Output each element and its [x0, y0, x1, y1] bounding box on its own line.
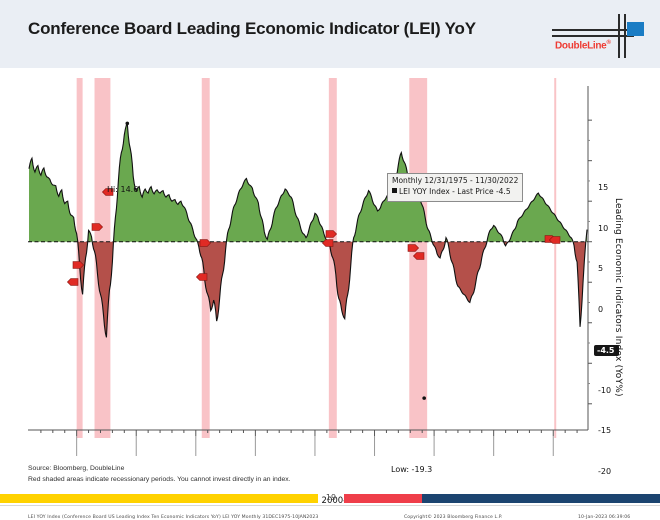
bloomberg-footer-timestamp: 10-Jan-2023 06:39:06: [578, 515, 630, 520]
chart-container: Monthly 12/31/1975 - 11/30/2022 LEI YOY …: [0, 68, 660, 463]
logo-registered-mark: ®: [606, 40, 610, 46]
high-point-marker: [125, 122, 129, 126]
page-title: Conference Board Leading Economic Indica…: [28, 19, 476, 39]
y-axis-tick-label: 5: [598, 264, 603, 273]
legend-swatch-icon: [392, 188, 397, 193]
recession-marker-icons: [67, 122, 560, 400]
legend-series-row: LEI YOY Index - Last Price -4.5: [392, 187, 518, 198]
y-axis-tick-label: 0: [598, 305, 603, 314]
logo-wordmark: DoubleLine®: [555, 40, 611, 51]
footer-bar-blue: [422, 494, 660, 503]
y-axis-title: Leading Economic Indicators Index (YoY%): [613, 198, 623, 408]
low-point-marker: [422, 396, 426, 400]
recession-band: [554, 78, 556, 438]
y-axis-tick-label: -20: [598, 467, 611, 476]
y-axis-tick-label: 15: [598, 183, 608, 192]
bloomberg-footer-left: LEI YOY Index (Conference Board US Leadi…: [28, 515, 318, 520]
chart-legend: Monthly 12/31/1975 - 11/30/2022 LEI YOY …: [387, 173, 523, 202]
series-line: [29, 123, 587, 337]
footer-bar: 19: [0, 492, 660, 504]
page-header: Conference Board Leading Economic Indica…: [0, 0, 660, 69]
footer-bar-yellow: [0, 494, 318, 503]
legend-series-label: LEI YOY Index - Last Price -4.5: [399, 187, 511, 196]
recession-marker-icon: [196, 274, 207, 281]
disclaimer-line: Red shaded areas indicate recessionary p…: [28, 474, 291, 485]
plot-group: [29, 123, 587, 337]
annotation-low: Low: -19.3: [391, 465, 432, 474]
axis-group: [28, 86, 592, 456]
y-axis-tick-label: 10: [598, 224, 608, 233]
lei-yoy-area-chart: [0, 68, 660, 463]
footer-rule: [0, 505, 660, 506]
logo-horizontal-line-bottom: [552, 35, 634, 37]
logo-blue-square-icon: [627, 22, 644, 36]
doubleline-logo: DoubleLine®: [552, 14, 648, 58]
logo-vertical-line-left: [618, 14, 620, 58]
recession-bands-group: [77, 78, 557, 438]
source-line: Source: Bloomberg, DoubleLine: [28, 463, 291, 474]
logo-wordmark-text: DoubleLine: [555, 40, 606, 51]
y-axis-tick-label: -10: [598, 386, 611, 395]
footer-bar-red: [344, 494, 422, 503]
recession-marker-icon: [67, 279, 78, 286]
logo-horizontal-line-top: [552, 29, 634, 31]
bloomberg-footer-copyright: Copyright© 2023 Bloomberg Finance L.P.: [404, 515, 502, 520]
legend-date-range: Monthly 12/31/1975 - 11/30/2022: [392, 176, 518, 187]
y-axis-tick-label: -15: [598, 426, 611, 435]
page-number: 19: [318, 492, 344, 504]
logo-vertical-line-right: [624, 14, 626, 58]
annotation-high: Hi: 14.6: [107, 185, 138, 194]
source-notes: Source: Bloomberg, DoubleLine Red shaded…: [28, 463, 291, 485]
